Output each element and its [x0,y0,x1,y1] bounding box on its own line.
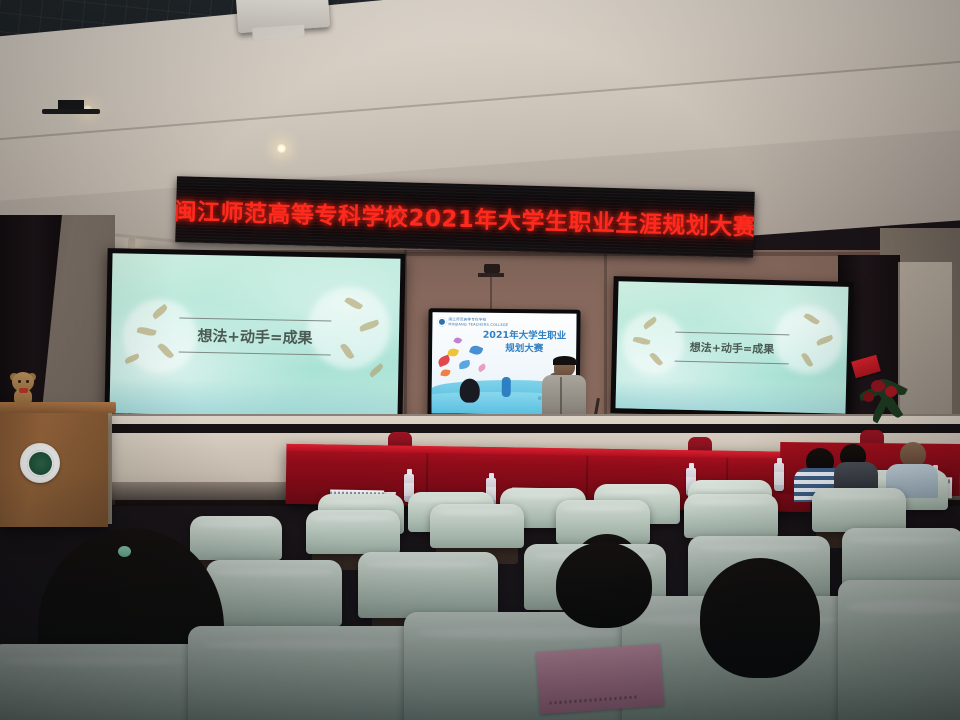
slide-title: 2021年大学生职业 规划大赛 [475,330,573,357]
water-bottle[interactable] [774,463,784,491]
congratulatory-flower-basket [855,362,919,426]
audience-chair [430,504,524,548]
flower-leaf-icon [870,397,889,424]
slide-silhouette-figure [502,377,511,397]
foreground-person-head [556,542,652,628]
bear-eye-icon [26,380,29,383]
led-banner-text: 闽江师范高等专科学校2021年大学生职业生涯规划大赛 [175,192,755,242]
audience-chair [838,580,960,720]
wall-seam [604,250,607,420]
bear-eye-icon [18,380,21,383]
pink-program-booklet[interactable] [536,644,664,714]
slide-title-line2: 规划大赛 [475,343,573,357]
audience-chair [188,626,418,720]
hair-clip [118,546,131,557]
slide-silhouette-figure [460,379,480,403]
monitor-base [42,109,100,114]
audience-chair [358,552,498,618]
audience-chair [306,510,400,554]
flower-bud-icon [885,386,897,397]
audience-chair [0,644,200,720]
camera-cable [490,277,492,311]
teddy-bear-figure [10,372,36,406]
left-screen-surface: 想法+动手=成果 [109,253,400,418]
foreground-person-head [700,558,820,678]
school-logo-mark-icon [437,317,446,326]
audience-chair [812,488,906,532]
audience-chair [206,560,342,626]
left-slide-text: 想法+动手=成果 [195,317,315,354]
right-slide-text: 想法+动手=成果 [687,331,776,363]
slide-title-line1: 2021年大学生职业 [475,330,573,344]
auditorium-photo: 闽江师范高等专科学校2021年大学生职业生涯规划大赛 想法+动手=成果 [0,0,960,720]
bear-bowtie-icon [19,388,28,393]
stage-trim-band [0,424,960,433]
right-projection-screen: 想法+动手=成果 [610,276,853,419]
flower-bud-icon [871,380,885,392]
presenter-hair [553,356,576,365]
audience-chair [190,516,282,560]
flower-bud-icon [863,392,874,402]
school-emblem-inner-icon [27,450,54,477]
booklet-text-line [549,696,638,705]
right-screen-surface: 想法+动手=成果 [615,281,848,414]
left-projection-screen: 想法+动手=成果 [104,248,405,424]
wall-camera-icon [484,264,500,273]
school-emblem [20,443,60,483]
recessed-spotlight [276,143,287,154]
school-logo-text: 闽江师范高等专科学校 MINJIANG TEACHERS COLLEGE [448,318,508,327]
leaf-decor [368,363,384,378]
audience-chair [684,494,778,538]
school-logo: 闽江师范高等专科学校 MINJIANG TEACHERS COLLEGE [437,317,508,327]
